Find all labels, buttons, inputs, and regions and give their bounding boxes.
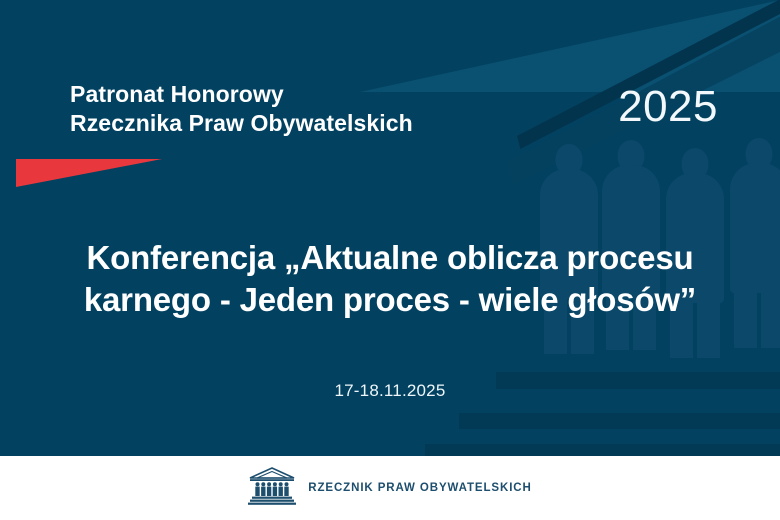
poster-footer: RZECZNIK PRAW OBYWATELSKICH xyxy=(0,456,780,520)
classical-building-icon xyxy=(248,466,296,511)
rpo-logo-text: RZECZNIK PRAW OBYWATELSKICH xyxy=(308,482,531,494)
patronage-heading: Patronat Honorowy Rzecznika Praw Obywate… xyxy=(70,80,413,139)
conference-date: 17-18.11.2025 xyxy=(40,381,740,401)
red-triangle-accent xyxy=(16,159,162,187)
conference-poster: Patronat Honorowy Rzecznika Praw Obywate… xyxy=(0,0,780,520)
base-step-bar-middle xyxy=(459,413,780,429)
rpo-logo-lockup[interactable]: RZECZNIK PRAW OBYWATELSKICH xyxy=(248,466,531,511)
conference-title: Konferencja „Aktualne oblicza procesu ka… xyxy=(40,237,740,321)
silhouette-leg-right xyxy=(761,288,780,348)
year-label: 2025 xyxy=(618,82,718,132)
base-step-bar-bottom xyxy=(425,444,780,456)
poster-stage: Patronat Honorowy Rzecznika Praw Obywate… xyxy=(0,0,780,456)
